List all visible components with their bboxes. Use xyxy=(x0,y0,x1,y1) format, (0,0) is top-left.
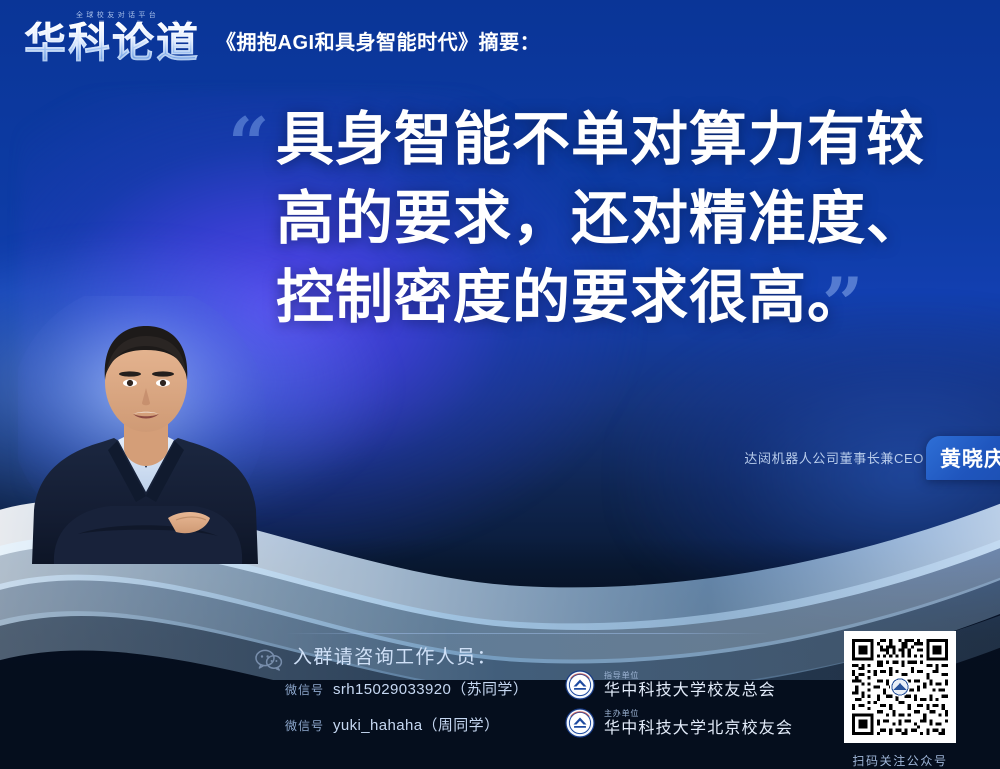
contact-row: 微信号 srh15029033920（苏同学） xyxy=(285,678,528,699)
organizer-text: 指导单位 华中科技大学校友总会 xyxy=(604,672,776,699)
organizer-name: 华中科技大学北京校友会 xyxy=(604,721,793,737)
organizer-kind: 主办单位 xyxy=(604,710,793,718)
contact-row: 微信号 yuki_hahaha（周同学） xyxy=(285,714,500,735)
contact-label: 微信号 xyxy=(285,717,324,734)
join-group-title: 入群请咨询工作人员： xyxy=(293,642,497,669)
quote-line: 高的要求，还对精准度、 xyxy=(276,179,925,258)
speaker-name-badge: 黄晓庆 xyxy=(926,436,1000,480)
contact-value: srh15029033920（苏同学） xyxy=(333,678,528,699)
quote-line: 控制密度的要求很高。 xyxy=(276,258,925,337)
speaker-portrait xyxy=(18,296,274,564)
contact-value: yuki_hahaha（周同学） xyxy=(333,714,499,735)
organizer-name: 华中科技大学校友总会 xyxy=(604,683,776,699)
qr-code-block: 扫码关注公众号 xyxy=(834,631,966,769)
poster-header: 全球校友对话平台 华科论道 《拥抱AGI和具身智能时代》摘要： xyxy=(24,12,540,64)
quote-text: 具身智能不单对算力有较 高的要求，还对精准度、 控制密度的要求很高。 xyxy=(276,100,925,337)
qr-caption: 扫码关注公众号 xyxy=(834,752,966,769)
brand-logo-text: 华科论道 xyxy=(24,22,200,64)
quote-line: 具身智能不单对算力有较 xyxy=(276,100,925,179)
quote-open-mark: “ xyxy=(228,108,269,180)
wechat-icon xyxy=(255,649,283,671)
university-seal-icon xyxy=(565,670,595,700)
organizer-row: 指导单位 华中科技大学校友总会 xyxy=(565,670,776,700)
speaker-attribution: 达闼机器人公司董事长兼CEO 黄晓庆 xyxy=(744,448,924,467)
brand-logo: 全球校友对话平台 华科论道 xyxy=(24,12,200,64)
poster-root: 全球校友对话平台 华科论道 《拥抱AGI和具身智能时代》摘要： “ 具身智能不单… xyxy=(0,0,1000,769)
contact-label: 微信号 xyxy=(285,681,324,698)
qr-code-image[interactable] xyxy=(844,631,956,743)
speaker-title: 达闼机器人公司董事长兼CEO xyxy=(744,451,924,466)
organizer-text: 主办单位 华中科技大学北京校友会 xyxy=(604,710,793,737)
organizer-row: 主办单位 华中科技大学北京校友会 xyxy=(565,708,793,738)
page-title: 《拥抱AGI和具身智能时代》摘要： xyxy=(216,26,540,64)
university-seal-icon xyxy=(565,708,595,738)
footer-divider xyxy=(285,633,770,634)
footer-contact-section: 入群请咨询工作人员： 微信号 srh15029033920（苏同学） 微信号 y… xyxy=(255,640,800,752)
brand-tagline: 全球校友对话平台 xyxy=(76,10,159,20)
speaker-name: 黄晓庆 xyxy=(940,443,1000,473)
organizer-kind: 指导单位 xyxy=(604,672,776,680)
